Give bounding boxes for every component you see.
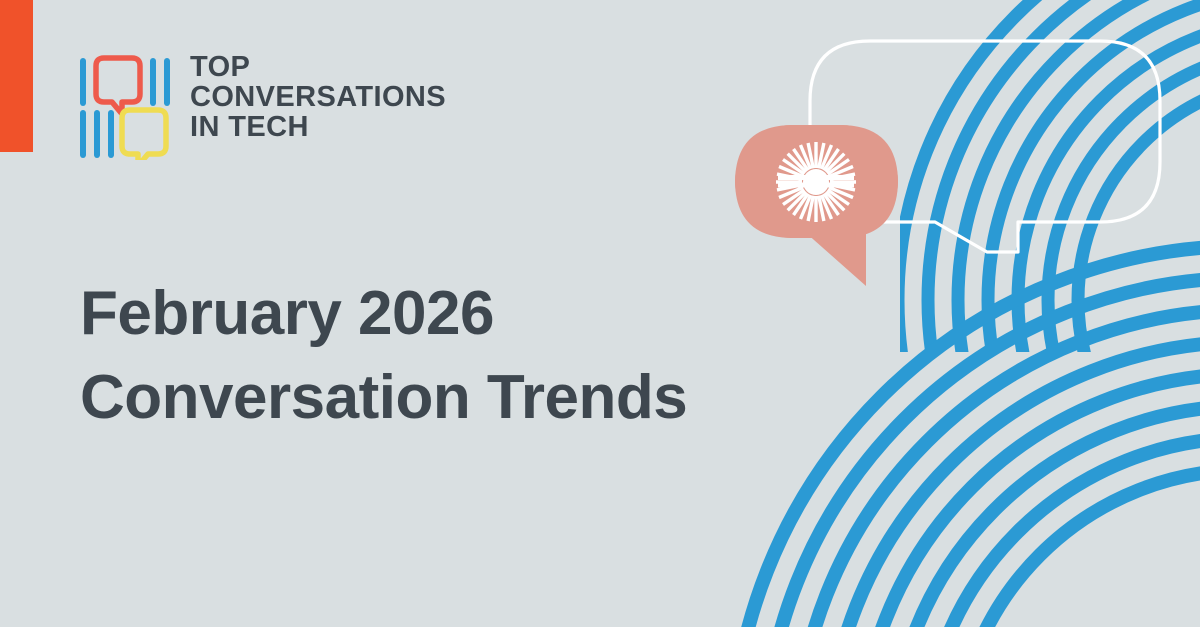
speech-bubble-barcode-mark [80,54,172,160]
logo[interactable]: TOP CONVERSATIONS IN TECH [80,52,446,160]
page-title-line-1: February 2026 [80,272,687,356]
page-title: February 2026 Conversation Trends [80,272,687,440]
logo-wordmark-line-3: IN TECH [190,112,446,142]
logo-wordmark-line-2: CONVERSATIONS [190,82,446,112]
logo-wordmark-line-1: TOP [190,52,446,82]
accent-bar [0,0,33,152]
page-title-line-2: Conversation Trends [80,356,687,440]
logo-wordmark: TOP CONVERSATIONS IN TECH [190,52,446,142]
promo-banner: TOP CONVERSATIONS IN TECH February 2026 … [0,0,1200,627]
sunburst-icon [776,142,856,222]
